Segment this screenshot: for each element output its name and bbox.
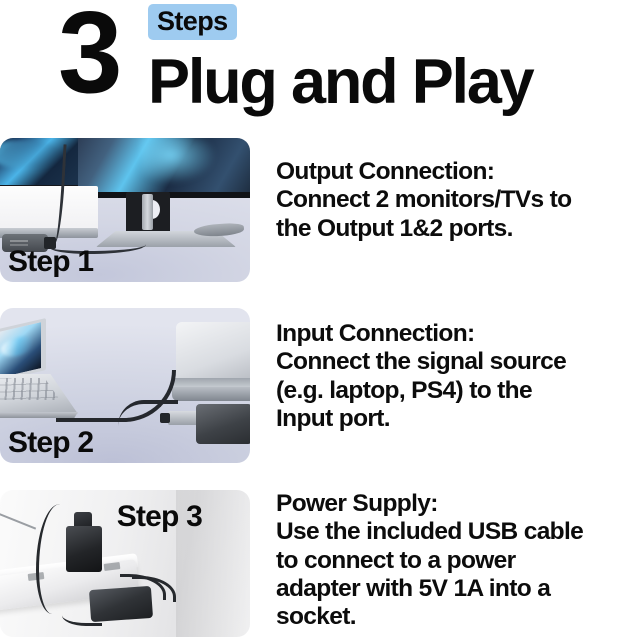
step-row-2: Step 2 Input Connection: Connect the sig… (0, 308, 640, 463)
desc-line: the Output 1&2 ports. (276, 215, 640, 243)
step-1-photo: Step 1 (0, 138, 250, 282)
desc-line: Input port. (276, 405, 640, 433)
step-3-label: Step 3 (117, 502, 202, 532)
desc-line: (e.g. laptop, PS4) to the (276, 377, 640, 405)
page-title: Plug and Play (148, 49, 533, 115)
desc-line: Use the included USB cable (276, 518, 640, 546)
desc-line: Input Connection: (276, 320, 640, 348)
desc-line: to connect to a power (276, 547, 640, 575)
header: 3 Steps Plug and Play (0, 0, 640, 130)
step-1-label: Step 1 (8, 247, 93, 277)
desc-line: adapter with 5V 1A into a (276, 575, 640, 603)
step-3-description: Power Supply: Use the included USB cable… (276, 490, 640, 631)
desc-line: Connect 2 monitors/TVs to (276, 186, 640, 214)
step-count-number: 3 (58, 0, 119, 110)
step-row-3: Step 3 Power Supply: Use the included US… (0, 490, 640, 637)
desc-line: Connect the signal source (276, 348, 640, 376)
step-2-description: Input Connection: Connect the signal sou… (276, 320, 640, 433)
step-row-1: Step 1 Output Connection: Connect 2 moni… (0, 138, 640, 282)
monitor-stand-neck (142, 194, 153, 230)
step-3-photo: Step 3 (0, 490, 250, 637)
step-2-label: Step 2 (8, 428, 93, 458)
desc-line: Output Connection: (276, 158, 640, 186)
usb-power-adapter (66, 526, 102, 572)
desk-riser (0, 186, 98, 230)
step-2-photo: Step 2 (0, 308, 250, 463)
device-body-lower (172, 387, 250, 401)
steps-badge: Steps (148, 4, 237, 40)
desc-line: Power Supply: (276, 490, 640, 518)
splitter-hub-device (196, 404, 250, 444)
desc-line: socket. (276, 603, 640, 631)
step-1-description: Output Connection: Connect 2 monitors/TV… (276, 158, 640, 243)
device-body-upper (176, 322, 250, 380)
infographic-page: 3 Steps Plug and Play Step 1 Output Conn… (0, 0, 640, 640)
monitor-right-screen (78, 138, 250, 198)
